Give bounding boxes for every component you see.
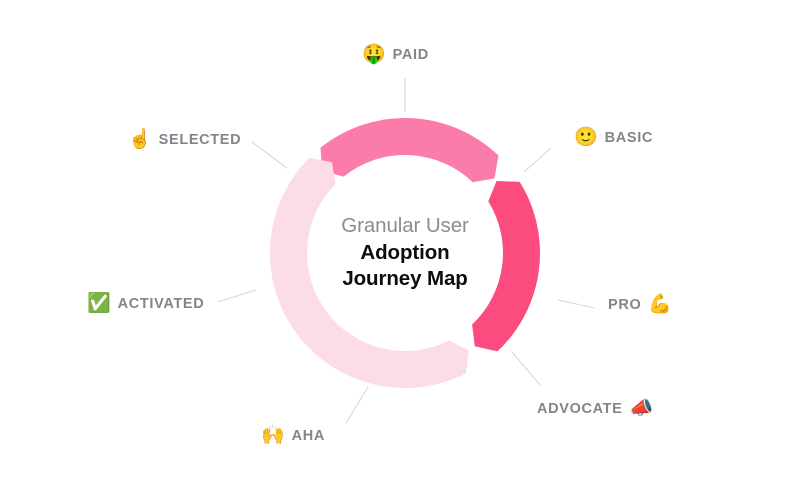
stage-label-basic[interactable]: 🙂 BASIC [574, 128, 653, 147]
center-title-line2: Adoption [300, 240, 510, 267]
connector-basic [524, 148, 551, 172]
raising-hands-icon: 🙌 [261, 426, 285, 445]
stage-label-activated-text: ACTIVATED [118, 296, 205, 312]
stage-label-basic-text: BASIC [605, 130, 653, 146]
stage-label-activated[interactable]: ✅ ACTIVATED [87, 294, 204, 313]
stage-label-aha-text: AHA [292, 428, 325, 444]
stage-label-pro-text: PRO [608, 297, 641, 313]
connector-advocate [512, 352, 540, 385]
stage-label-advocate-text: ADVOCATE [537, 401, 623, 417]
stage-label-pro[interactable]: PRO 💪 [608, 295, 672, 314]
connector-aha [346, 387, 368, 423]
index-pointing-up-icon: ☝️ [128, 130, 152, 149]
stage-label-selected-text: SELECTED [159, 132, 242, 148]
slightly-smiling-face-icon: 🙂 [574, 128, 598, 147]
stage-label-selected[interactable]: ☝️ SELECTED [128, 130, 241, 149]
center-title-block: Granular User Adoption Journey Map [300, 213, 510, 293]
check-mark-button-icon: ✅ [87, 294, 111, 313]
connector-selected [252, 142, 287, 168]
connector-pro [558, 300, 595, 308]
megaphone-icon: 📣 [630, 399, 654, 418]
diagram-canvas: Granular User Adoption Journey Map 🤑 PAI… [0, 0, 800, 492]
connector-activated [218, 290, 256, 302]
center-title-line3: Journey Map [300, 266, 510, 293]
stage-label-paid-text: PAID [393, 47, 429, 63]
center-title-line1: Granular User [300, 213, 510, 240]
stage-label-paid[interactable]: 🤑 PAID [362, 45, 429, 64]
stage-label-advocate[interactable]: ADVOCATE 📣 [537, 399, 653, 418]
ring-segment-top-arc[interactable] [320, 118, 498, 182]
stage-label-aha[interactable]: 🙌 AHA [261, 426, 325, 445]
money-mouth-face-icon: 🤑 [362, 45, 386, 64]
flexed-biceps-icon: 💪 [648, 295, 672, 314]
